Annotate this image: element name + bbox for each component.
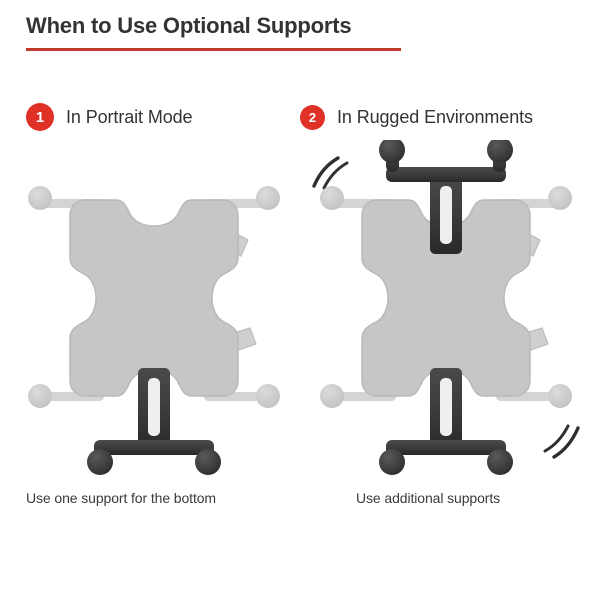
- motion-lines-top-left: [314, 158, 347, 188]
- corner-knob-bottom-left: [28, 384, 52, 408]
- x-shaped-cradle-plate: [70, 200, 238, 396]
- corner-knob-top-right: [548, 186, 572, 210]
- support-foot-right: [195, 449, 221, 475]
- title-underline-rule: [26, 48, 401, 51]
- column-heading-1: 1 In Portrait Mode: [26, 100, 192, 134]
- step-badge-1: 1: [26, 103, 54, 131]
- corner-knob-bottom-right: [548, 384, 572, 408]
- corner-knob-bottom-right: [256, 384, 280, 408]
- illustration-rugged-environments: [300, 140, 592, 480]
- step-badge-2: 2: [300, 105, 325, 130]
- column-heading-label-1: In Portrait Mode: [66, 107, 192, 128]
- captions-row: Use one support for the bottom Use addit…: [0, 490, 600, 514]
- column-heading-2: 2 In Rugged Environments: [300, 100, 533, 134]
- corner-knob-top-left: [320, 186, 344, 210]
- column-headings: 1 In Portrait Mode 2 In Rugged Environme…: [0, 100, 600, 134]
- page-title: When to Use Optional Supports: [26, 12, 574, 40]
- corner-knob-top-right: [256, 186, 280, 210]
- caption-portrait-mode: Use one support for the bottom: [26, 490, 216, 506]
- caption-rugged-environments: Use additional supports: [356, 490, 500, 506]
- motion-lines-bottom-right: [545, 426, 578, 457]
- support-foot-top-left: [379, 140, 405, 163]
- support-foot-right: [487, 449, 513, 475]
- corner-knob-bottom-left: [320, 384, 344, 408]
- column-heading-label-2: In Rugged Environments: [337, 107, 533, 128]
- support-foot-left: [87, 449, 113, 475]
- corner-knob-top-left: [28, 186, 52, 210]
- illustration-portrait-mode: [8, 140, 300, 480]
- header: When to Use Optional Supports: [26, 12, 574, 51]
- support-foot-left: [379, 449, 405, 475]
- support-foot-top-right: [487, 140, 513, 163]
- illustration-page: When to Use Optional Supports 1 In Portr…: [0, 0, 600, 600]
